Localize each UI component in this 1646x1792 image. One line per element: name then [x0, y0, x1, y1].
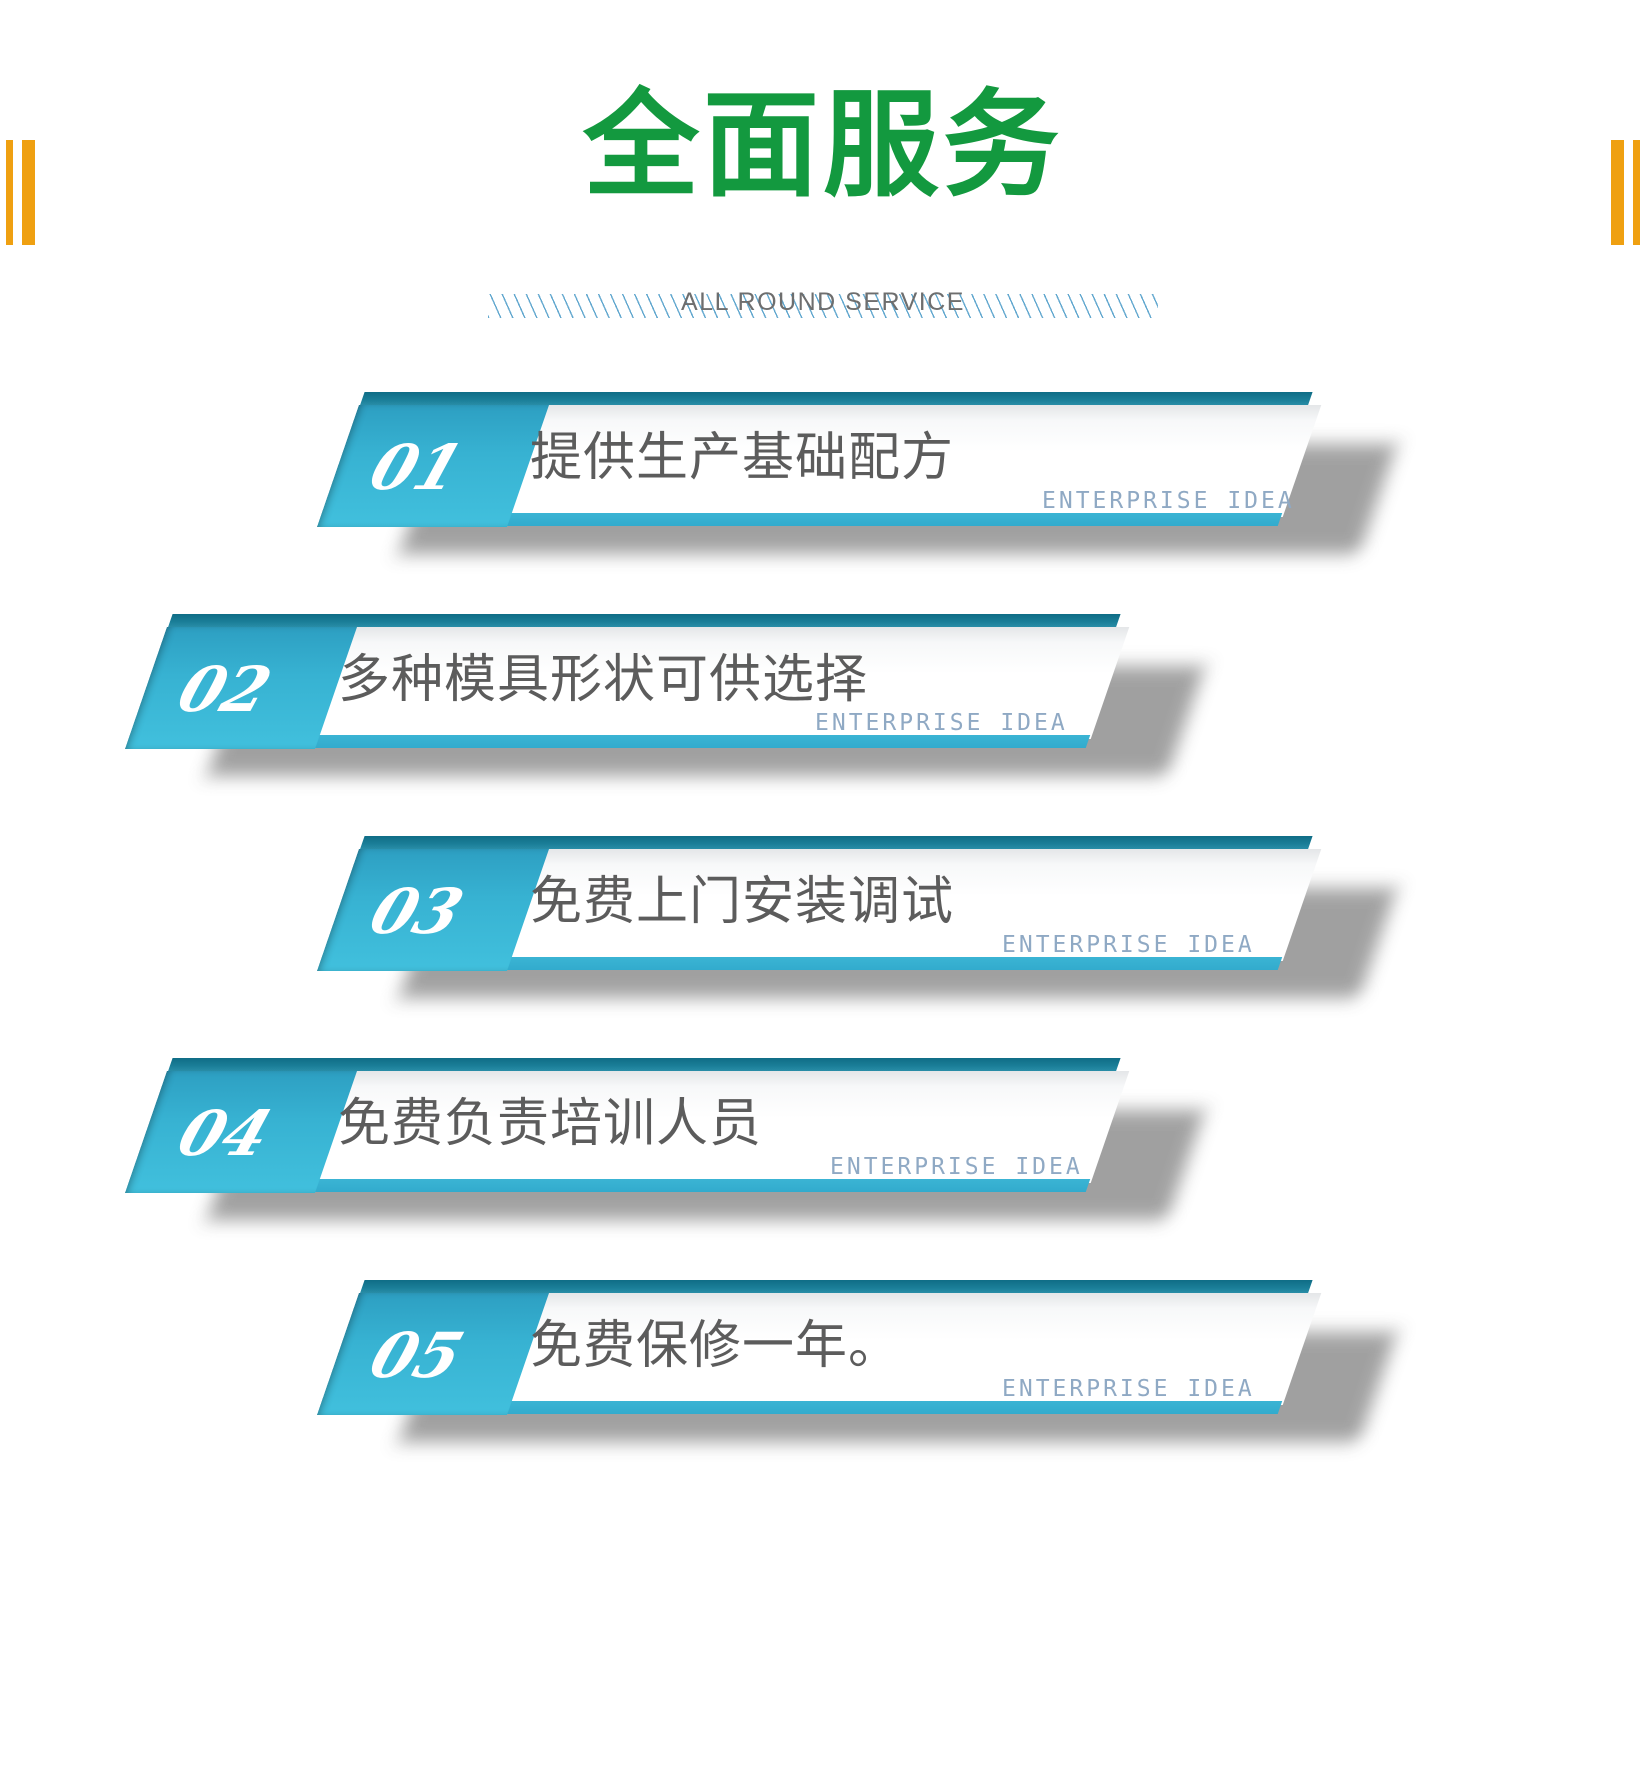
row-watermark: ENTERPRISE IDEA	[1042, 488, 1295, 514]
row-label: 免费上门安装调试	[530, 870, 954, 935]
page-subtitle: ALL ROUND SERVICE	[681, 288, 965, 317]
row-label: 免费保修一年。	[530, 1314, 901, 1379]
row-number: 04	[171, 1103, 279, 1165]
row-number: 02	[171, 659, 279, 721]
row-label: 提供生产基础配方	[530, 426, 954, 491]
row-number: 05	[363, 1325, 471, 1387]
row-watermark: ENTERPRISE IDEA	[830, 1154, 1083, 1180]
row-label: 免费负责培训人员	[338, 1092, 762, 1157]
row-number: 03	[363, 881, 471, 943]
row-watermark: ENTERPRISE IDEA	[815, 710, 1068, 736]
service-list: 01 提供生产基础配方 ENTERPRISE IDEA 02 多种模具形状可供选…	[0, 0, 1646, 1792]
row-watermark: ENTERPRISE IDEA	[1002, 1376, 1255, 1402]
row-label: 多种模具形状可供选择	[338, 648, 868, 713]
row-number: 01	[363, 437, 471, 499]
row-watermark: ENTERPRISE IDEA	[1002, 932, 1255, 958]
